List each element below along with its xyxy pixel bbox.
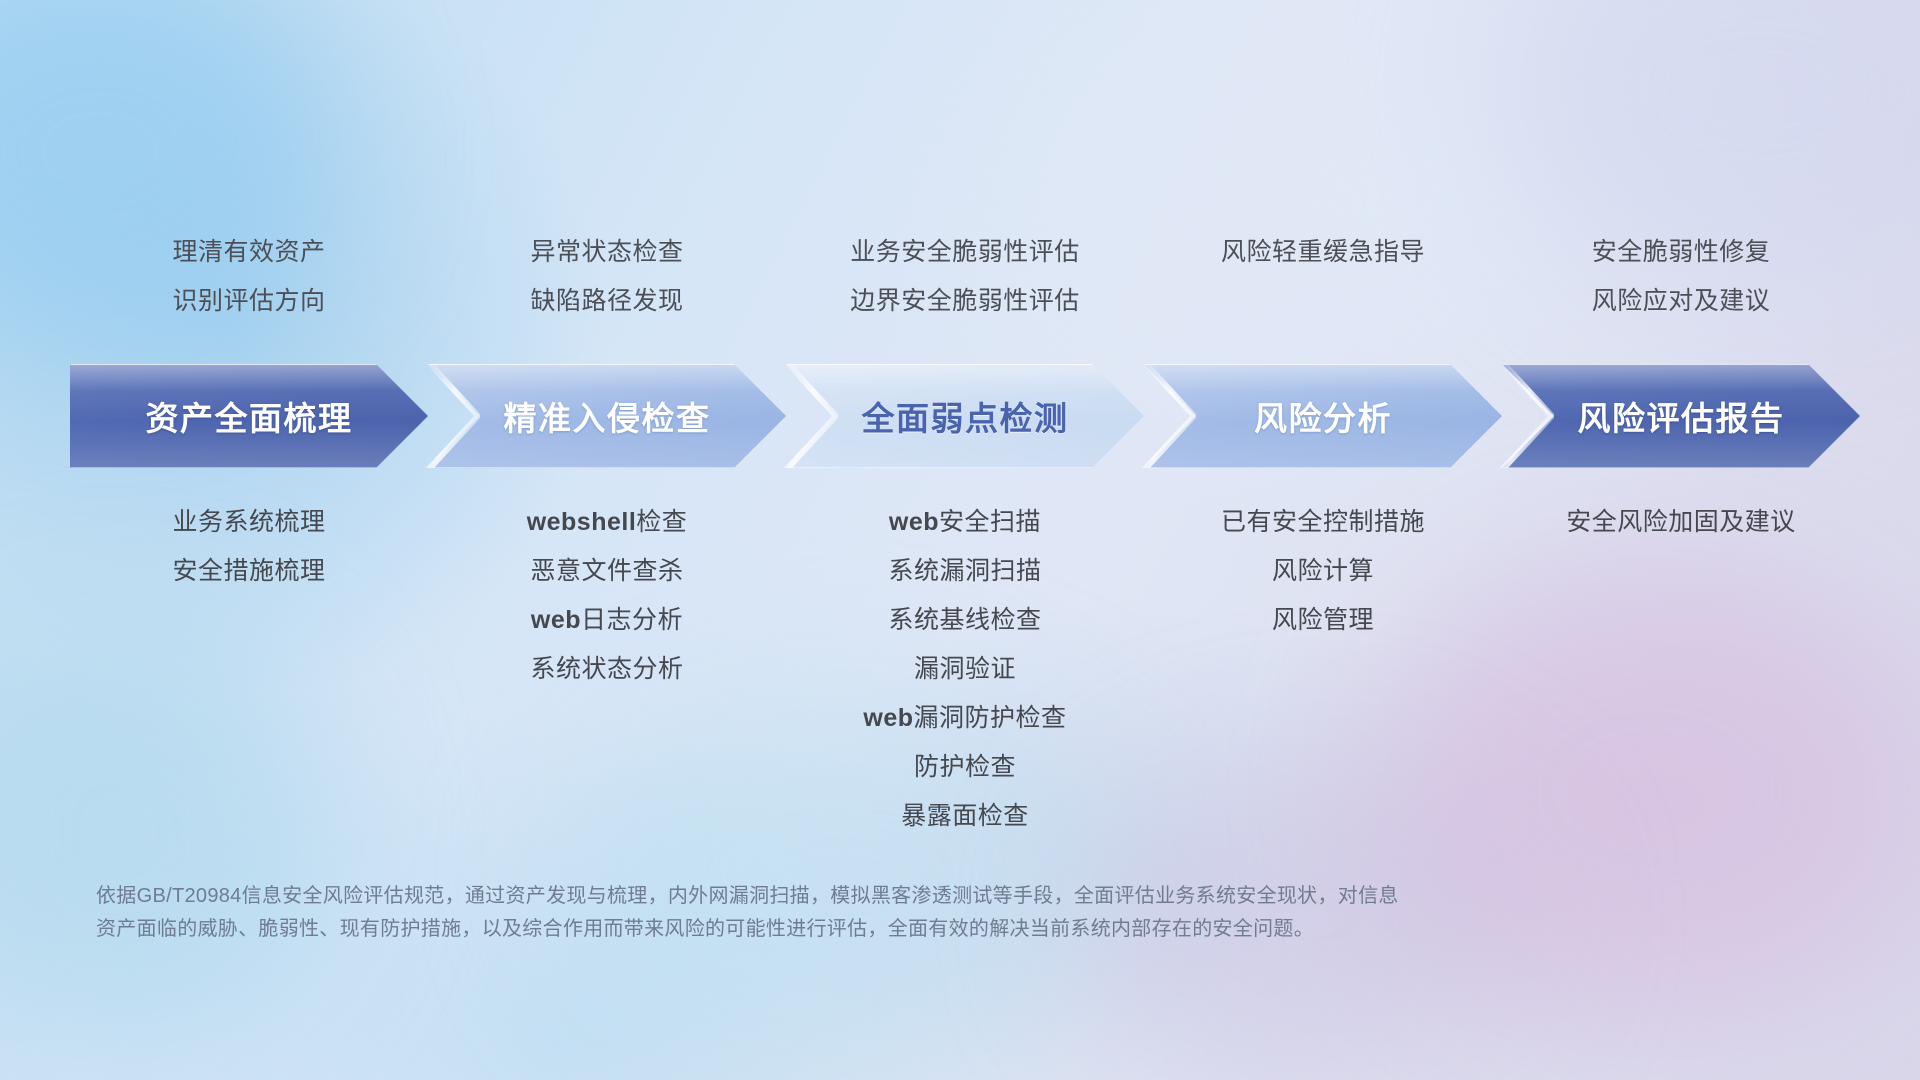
- list-item: 安全措施梳理: [172, 547, 325, 596]
- chevron-weakness-detection[interactable]: 全面弱点检测: [786, 364, 1144, 468]
- footer-line-2: 资产面临的威胁、脆弱性、现有防护措施，以及综合作用而带来风险的可能性进行评估，全…: [96, 913, 1646, 946]
- list-item: 暴露面检查: [901, 792, 1029, 841]
- list-item: webshell检查: [527, 498, 688, 547]
- top-label: 识别评估方向: [172, 277, 325, 326]
- list-item: 漏洞验证: [914, 645, 1016, 694]
- chevron-label: 风险分析: [1254, 392, 1392, 440]
- top-label: 风险轻重缓急指导: [1221, 228, 1425, 277]
- list-item: 风险计算: [1272, 547, 1374, 596]
- chevron-risk-report[interactable]: 风险评估报告: [1502, 364, 1860, 468]
- chevron-risk-analysis[interactable]: 风险分析: [1144, 364, 1502, 468]
- stage-chevron-banner: 资产全面梳理精准入侵检查全面弱点检测风险分析风险评估报告: [70, 364, 1860, 468]
- list-item: 防护检查: [914, 743, 1016, 792]
- list-item: 业务系统梳理: [172, 498, 325, 547]
- list-item: web日志分析: [531, 596, 683, 645]
- chevron-label: 资产全面梳理: [146, 392, 353, 440]
- description-footer: 依据GB/T20984信息安全风险评估规范，通过资产发现与梳理，内外网漏洞扫描，…: [96, 880, 1646, 946]
- list-item: 风险管理: [1272, 596, 1374, 645]
- top-label: 理清有效资产: [172, 228, 325, 277]
- top-label: 业务安全脆弱性评估: [850, 228, 1080, 277]
- item-list-asset-inventory: 业务系统梳理安全措施梳理: [70, 498, 428, 841]
- list-item: web安全扫描: [889, 498, 1041, 547]
- list-item: 系统漏洞扫描: [888, 547, 1041, 596]
- list-item: 恶意文件查杀: [530, 547, 683, 596]
- chevron-intrusion-check[interactable]: 精准入侵检查: [428, 364, 786, 468]
- top-labels-weakness-detection: 业务安全脆弱性评估边界安全脆弱性评估: [786, 228, 1144, 338]
- chevron-label: 全面弱点检测: [862, 392, 1069, 440]
- list-item: 已有安全控制措施: [1221, 498, 1425, 547]
- process-diagram: 理清有效资产识别评估方向异常状态检查缺陷路径发现业务安全脆弱性评估边界安全脆弱性…: [0, 0, 1920, 1080]
- list-item: 系统基线检查: [888, 596, 1041, 645]
- list-item: 系统状态分析: [530, 645, 683, 694]
- item-list-risk-analysis: 已有安全控制措施风险计算风险管理: [1144, 498, 1502, 841]
- top-label: 缺陷路径发现: [530, 277, 683, 326]
- footer-line-1: 依据GB/T20984信息安全风险评估规范，通过资产发现与梳理，内外网漏洞扫描，…: [96, 880, 1646, 913]
- chevron-label: 风险评估报告: [1578, 392, 1785, 440]
- top-labels-risk-analysis: 风险轻重缓急指导: [1144, 228, 1502, 338]
- stage-item-lists-row: 业务系统梳理安全措施梳理webshell检查恶意文件查杀web日志分析系统状态分…: [70, 498, 1860, 841]
- item-list-risk-report: 安全风险加固及建议: [1502, 498, 1860, 841]
- top-label: 边界安全脆弱性评估: [850, 277, 1080, 326]
- top-label: 风险应对及建议: [1592, 277, 1771, 326]
- top-label: 安全脆弱性修复: [1592, 228, 1771, 277]
- item-list-weakness-detection: web安全扫描系统漏洞扫描系统基线检查漏洞验证web漏洞防护检查防护检查暴露面检…: [786, 498, 1144, 841]
- chevron-asset-inventory[interactable]: 资产全面梳理: [70, 364, 428, 468]
- chevron-label: 精准入侵检查: [504, 392, 711, 440]
- top-labels-risk-report: 安全脆弱性修复风险应对及建议: [1502, 228, 1860, 338]
- list-item: 安全风险加固及建议: [1566, 498, 1796, 547]
- stage-top-labels-row: 理清有效资产识别评估方向异常状态检查缺陷路径发现业务安全脆弱性评估边界安全脆弱性…: [70, 228, 1860, 338]
- list-item: web漏洞防护检查: [863, 694, 1066, 743]
- top-label: 异常状态检查: [530, 228, 683, 277]
- top-labels-asset-inventory: 理清有效资产识别评估方向: [70, 228, 428, 338]
- item-list-intrusion-check: webshell检查恶意文件查杀web日志分析系统状态分析: [428, 498, 786, 841]
- top-labels-intrusion-check: 异常状态检查缺陷路径发现: [428, 228, 786, 338]
